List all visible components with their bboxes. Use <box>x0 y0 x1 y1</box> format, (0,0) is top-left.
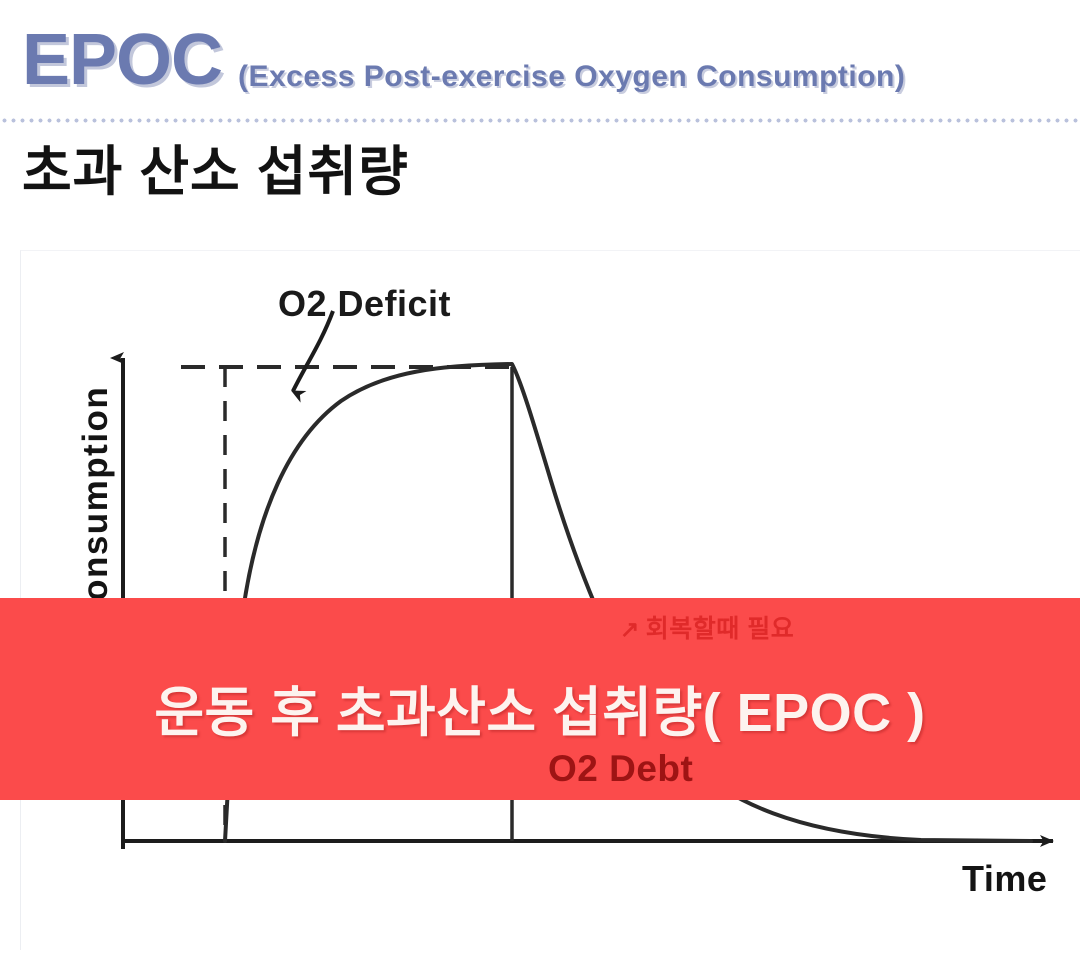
banner-note-text: 회복할때 필요 <box>646 615 794 643</box>
up-right-arrow-icon: ↗ <box>620 616 640 642</box>
page-subtitle: (Excess Post-exercise Oxygen Consumption… <box>238 62 905 92</box>
banner-note: ↗회복할때 필요 <box>620 609 794 645</box>
o2-debt-label: O2 Debt <box>548 748 693 790</box>
dotted-divider <box>0 118 1080 123</box>
o2-deficit-label: O2 Deficit <box>278 283 451 325</box>
banner-main-text: 운동 후 초과산소 섭취량( EPOC ) <box>0 668 1080 747</box>
slide-header: EPOC (Excess Post-exercise Oxygen Consum… <box>0 0 1080 128</box>
page-title: EPOC <box>22 24 222 96</box>
epoc-slide: EPOC (Excess Post-exercise Oxygen Consum… <box>0 0 1080 953</box>
korean-heading: 초과 산소 섭취량 <box>22 143 409 202</box>
x-axis-label: Time <box>962 858 1047 900</box>
